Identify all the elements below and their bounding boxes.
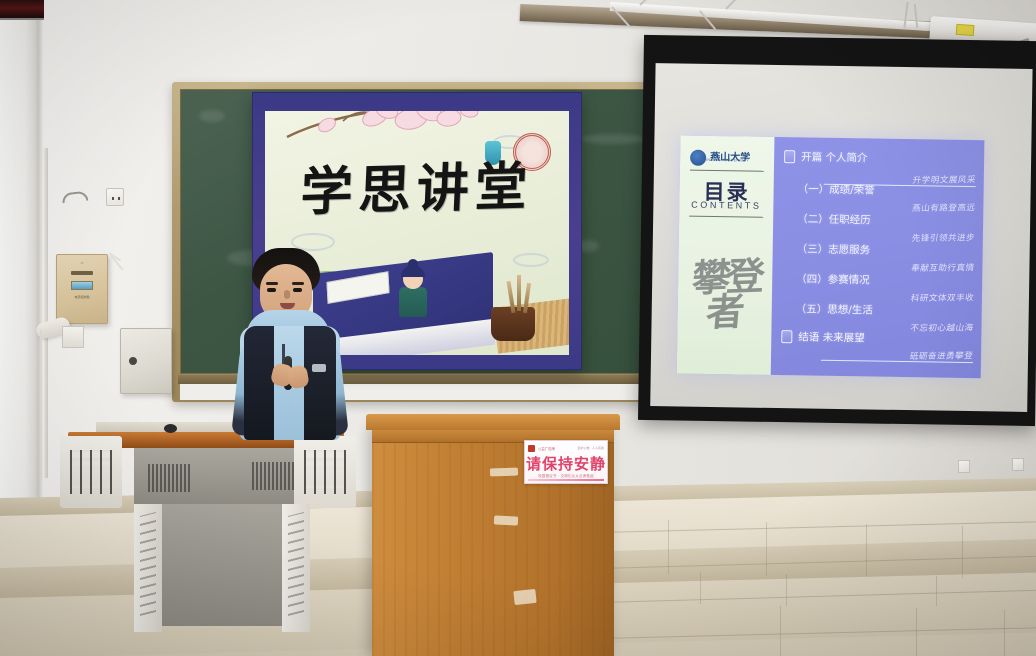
toc-label: （五）思想/生活	[796, 301, 873, 317]
desk-left-side	[60, 436, 122, 508]
power-control-box[interactable]: ▭ 电源控制箱	[56, 254, 108, 324]
sign-logo-icon	[528, 445, 535, 452]
desk-speaker-vent	[148, 464, 190, 492]
podium-tape-mark	[494, 515, 518, 525]
toc-item: （四）参赛情况	[796, 271, 870, 287]
wooden-podium: 公益广告牌 爱护公物 · 人人有责 请保持安静 校园倡议书 · 文明礼仪从点滴做…	[372, 424, 614, 656]
speaker-eyebrow	[292, 282, 304, 285]
wall-outlet[interactable]	[106, 188, 124, 206]
toc-note: 燕山有路登高远	[911, 201, 976, 214]
toc-label: 结语 未来展望	[798, 329, 865, 345]
ceiling-display-strip	[0, 0, 44, 20]
banner-character-bun	[408, 259, 418, 268]
classroom-scene: 学思讲堂 燕山大学	[0, 0, 1036, 656]
wall-terminal-block	[62, 326, 84, 348]
sign-bottom-bar	[528, 479, 604, 481]
housing-warning-label	[956, 24, 975, 36]
junction-box-latch[interactable]	[129, 357, 137, 365]
toc-item: （五）思想/生活	[796, 301, 873, 317]
toc-note: 砥砺奋进勇攀登	[909, 349, 974, 362]
toc-note: 先锋引领共进步	[911, 231, 976, 244]
toc-label: 开篇 个人简介	[801, 149, 868, 165]
toc-item: （三）志愿服务	[797, 241, 871, 257]
desk-leg-slits	[288, 512, 304, 616]
control-box-slot	[71, 271, 93, 275]
presentation-slide: 燕山大学 YANSHAN UNIVERSITY 目录 CONTENTS 攀登者 …	[677, 135, 985, 378]
slide-heading-en: CONTENTS	[679, 199, 773, 210]
sign-main-text: 请保持安静	[525, 453, 607, 474]
podium-tape-mark	[490, 468, 518, 477]
wall-outlet[interactable]	[1012, 458, 1024, 471]
desk-vent-holes	[70, 450, 112, 494]
desk-center-panel	[158, 504, 282, 626]
left-wall-panel	[0, 0, 38, 520]
section-badge-icon	[784, 150, 795, 163]
speaker-person	[222, 248, 362, 440]
speaker-vest-left	[244, 326, 274, 440]
banner-title-text: 学思讲堂	[265, 143, 569, 226]
desk-speaker-vent	[252, 462, 294, 490]
toc-item: 结语 未来展望	[781, 329, 865, 345]
desk-right-side	[294, 436, 356, 508]
toc-note: 科研文体双丰收	[910, 291, 975, 304]
wall-outlet[interactable]	[958, 460, 970, 473]
toc-note: 奉献互助行真情	[910, 261, 975, 274]
podium-top-cap	[366, 414, 620, 430]
desk-knob[interactable]	[164, 424, 177, 433]
sign-logo-text: 公益广告牌	[538, 446, 555, 451]
desk-right-leg	[282, 504, 310, 632]
wall-conduit-pipe	[44, 148, 48, 478]
sign-sub-text: 校园倡议书 · 文明礼仪从点滴做起	[525, 473, 607, 478]
toc-label: （三）志愿服务	[797, 241, 871, 257]
toc-item: 开篇 个人简介	[784, 149, 868, 165]
toc-note: 不忘初心越山海	[909, 321, 974, 334]
toc-note: 升学明文展风采	[912, 173, 977, 186]
speaker-nose	[284, 290, 290, 299]
quiet-notice-sign: 公益广告牌 爱护公物 · 人人有责 请保持安静 校园倡议书 · 文明礼仪从点滴做…	[524, 440, 608, 484]
toc-label: （四）参赛情况	[796, 271, 870, 287]
section-badge-icon	[781, 330, 792, 343]
toc-label: （二）任职经历	[797, 211, 871, 227]
toc-label: （一）成绩/荣誉	[798, 181, 875, 197]
projection-screen-surface: 燕山大学 YANSHAN UNIVERSITY 目录 CONTENTS 攀登者 …	[650, 63, 1032, 412]
teaching-desk	[56, 418, 356, 656]
toc-item: （一）成绩/荣誉	[798, 181, 875, 197]
sign-header: 公益广告牌 爱护公物 · 人人有责	[528, 444, 604, 452]
speaker-vest-pocket	[312, 364, 326, 372]
speaker-eye	[293, 288, 302, 292]
slide-sidebar: 燕山大学 YANSHAN UNIVERSITY 目录 CONTENTS 攀登者	[677, 135, 775, 374]
desk-leg-slits	[140, 512, 156, 616]
sign-header-right-text: 爱护公物 · 人人有责	[577, 446, 604, 450]
banner-brush	[517, 275, 521, 311]
slide-calligraphy: 攀登者	[675, 221, 774, 370]
podium-tape-mark	[513, 589, 536, 605]
banner-character-body	[399, 287, 427, 317]
junction-box[interactable]	[120, 328, 172, 394]
toc-item: （二）任职经历	[797, 211, 871, 227]
wall-cable-drop	[40, 330, 42, 480]
speaker-eyebrow	[266, 282, 278, 285]
control-box-label: 电源控制箱	[57, 295, 107, 299]
speaker-eye	[267, 288, 276, 292]
control-box-display	[71, 281, 93, 290]
slide-toc: 开篇 个人简介 升学明文展风采 （一）成绩/荣誉 燕山有路登高远 （二）任职经历…	[771, 137, 985, 378]
university-logo-subtext: YANSHAN UNIVERSITY	[702, 158, 749, 163]
speaker-vest-right	[304, 326, 336, 440]
desk-vent-holes	[304, 450, 346, 494]
projection-screen: 燕山大学 YANSHAN UNIVERSITY 目录 CONTENTS 攀登者 …	[638, 35, 1036, 426]
desk-left-leg	[134, 504, 162, 632]
